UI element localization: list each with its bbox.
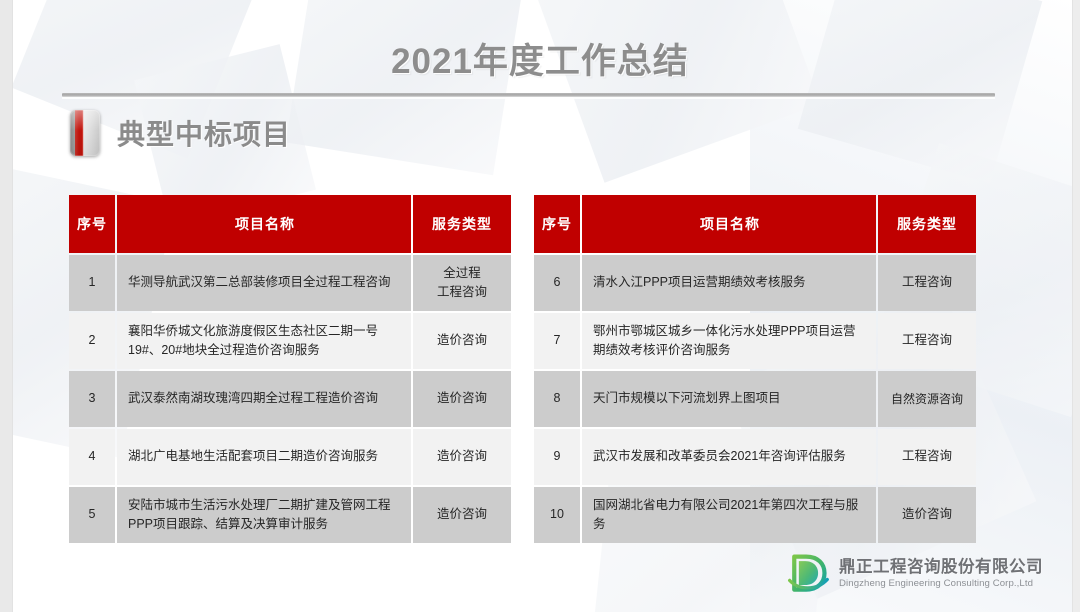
column-header-index: 序号: [69, 195, 115, 253]
slide-left-border: [0, 0, 13, 612]
table-row[interactable]: 2 襄阳华侨城文化旅游度假区生态社区二期一号19#、20#地块全过程造价咨询服务…: [69, 313, 511, 369]
slide-canvas: 2021年度工作总结 典型中标项目 序号 项目名称 服务类型 1 华测导航武汉第…: [0, 0, 1080, 612]
cell-index: 5: [69, 487, 115, 543]
cell-index: 2: [69, 313, 115, 369]
cell-name: 清水入江PPP项目运营期绩效考核服务: [582, 255, 876, 311]
background-polygon: [529, 0, 820, 183]
table-row[interactable]: 7 鄂州市鄂城区城乡一体化污水处理PPP项目运营期绩效考核评价咨询服务 工程咨询: [534, 313, 976, 369]
cell-service: 工程咨询: [878, 313, 976, 369]
dingzheng-leaf-logo-icon: [786, 552, 830, 596]
column-header-service: 服务类型: [878, 195, 976, 253]
cell-index: 7: [534, 313, 580, 369]
column-header-name: 项目名称: [582, 195, 876, 253]
cell-name: 武汉市发展和改革委员会2021年咨询评估服务: [582, 429, 876, 485]
cell-name: 天门市规模以下河流划界上图项目: [582, 371, 876, 427]
page-title: 2021年度工作总结: [0, 33, 1080, 84]
cell-service: 工程咨询: [878, 255, 976, 311]
cell-index: 9: [534, 429, 580, 485]
logo-text-block: 鼎正工程咨询股份有限公司 Dingzheng Engineering Consu…: [839, 559, 1043, 589]
cell-index: 1: [69, 255, 115, 311]
cell-index: 10: [534, 487, 580, 543]
cell-name: 襄阳华侨城文化旅游度假区生态社区二期一号19#、20#地块全过程造价咨询服务: [117, 313, 411, 369]
column-header-name: 项目名称: [117, 195, 411, 253]
cell-service: 工程咨询: [878, 429, 976, 485]
cell-index: 4: [69, 429, 115, 485]
table-row[interactable]: 8 天门市规模以下河流划界上图项目 自然资源咨询: [534, 371, 976, 427]
table-row[interactable]: 1 华测导航武汉第二总部装修项目全过程工程咨询 全过程 工程咨询: [69, 255, 511, 311]
column-header-service: 服务类型: [413, 195, 511, 253]
title-divider: [62, 93, 995, 97]
table-row[interactable]: 5 安陆市城市生活污水处理厂二期扩建及管网工程PPP项目跟踪、结算及决算审计服务…: [69, 487, 511, 543]
cell-index: 8: [534, 371, 580, 427]
cell-service: 造价咨询: [413, 487, 511, 543]
cell-name: 国网湖北省电力有限公司2021年第四次工程与服务: [582, 487, 876, 543]
slide-right-border: [1072, 0, 1080, 612]
cell-index: 6: [534, 255, 580, 311]
cell-service: 全过程 工程咨询: [413, 255, 511, 311]
table-header-row: 序号 项目名称 服务类型: [534, 195, 976, 253]
table-row[interactable]: 6 清水入江PPP项目运营期绩效考核服务 工程咨询: [534, 255, 976, 311]
background-polygon: [798, 0, 1043, 184]
table-row[interactable]: 10 国网湖北省电力有限公司2021年第四次工程与服务 造价咨询: [534, 487, 976, 543]
background-polygon: [286, 0, 525, 175]
cell-index: 3: [69, 371, 115, 427]
cell-service: 造价咨询: [413, 429, 511, 485]
cell-name: 华测导航武汉第二总部装修项目全过程工程咨询: [117, 255, 411, 311]
cell-service: 造价咨询: [413, 371, 511, 427]
table-header-row: 序号 项目名称 服务类型: [69, 195, 511, 253]
cell-name: 鄂州市鄂城区城乡一体化污水处理PPP项目运营期绩效考核评价咨询服务: [582, 313, 876, 369]
company-logo: 鼎正工程咨询股份有限公司 Dingzheng Engineering Consu…: [786, 552, 1043, 596]
company-name-cn: 鼎正工程咨询股份有限公司: [839, 559, 1043, 577]
project-table-right: 序号 项目名称 服务类型 6 清水入江PPP项目运营期绩效考核服务 工程咨询 7…: [532, 193, 978, 545]
cell-service: 造价咨询: [413, 313, 511, 369]
table-row[interactable]: 9 武汉市发展和改革委员会2021年咨询评估服务 工程咨询: [534, 429, 976, 485]
project-tables: 序号 项目名称 服务类型 1 华测导航武汉第二总部装修项目全过程工程咨询 全过程…: [67, 193, 1002, 545]
cell-service: 自然资源咨询: [878, 371, 976, 427]
section-title: 典型中标项目: [117, 113, 291, 153]
cell-service: 造价咨询: [878, 487, 976, 543]
column-header-index: 序号: [534, 195, 580, 253]
cell-name: 安陆市城市生活污水处理厂二期扩建及管网工程PPP项目跟踪、结算及决算审计服务: [117, 487, 411, 543]
company-name-en: Dingzheng Engineering Consulting Corp.,L…: [839, 579, 1043, 589]
table-row[interactable]: 3 武汉泰然南湖玫瑰湾四期全过程工程造价咨询 造价咨询: [69, 371, 511, 427]
cell-name: 湖北广电基地生活配套项目二期造价咨询服务: [117, 429, 411, 485]
table-row[interactable]: 4 湖北广电基地生活配套项目二期造价咨询服务 造价咨询: [69, 429, 511, 485]
cell-name: 武汉泰然南湖玫瑰湾四期全过程工程造价咨询: [117, 371, 411, 427]
red-stripe-bar-icon: [70, 110, 100, 156]
section-header: 典型中标项目: [70, 110, 291, 156]
project-table-left: 序号 项目名称 服务类型 1 华测导航武汉第二总部装修项目全过程工程咨询 全过程…: [67, 193, 513, 545]
